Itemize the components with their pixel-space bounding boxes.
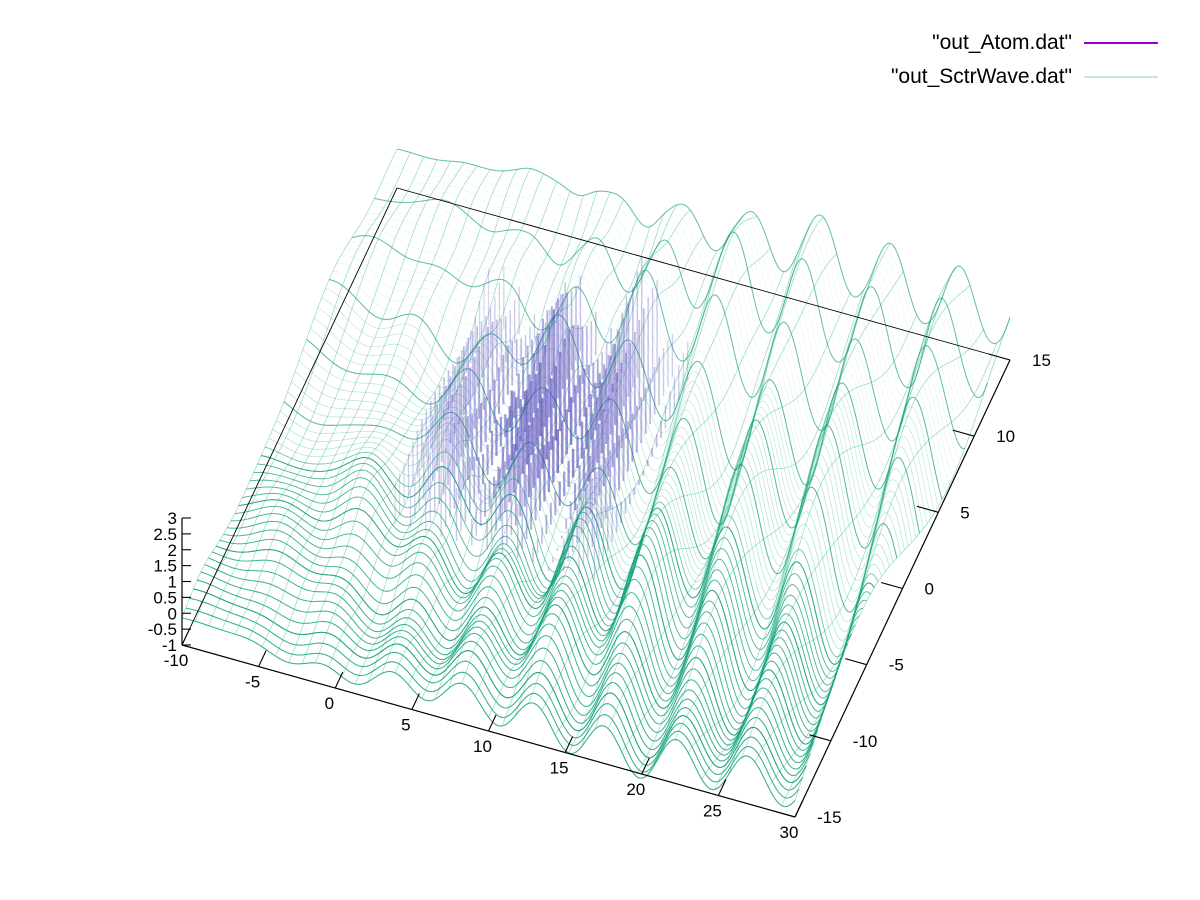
x-tick-label: 0 <box>325 694 334 713</box>
gnuplot-figure: -10-5051015202530-15-10-505101532.521.51… <box>0 0 1200 900</box>
y-tick-label: 0 <box>925 580 934 599</box>
legend-swatch-sctrwave <box>1084 76 1158 78</box>
y-tick-label: -10 <box>853 732 878 751</box>
y-tick-label: 15 <box>1032 351 1051 370</box>
x-tick-mark <box>718 780 726 796</box>
x-tick-label: 5 <box>401 716 410 735</box>
x-tick-label: 15 <box>550 759 569 778</box>
x-tick-label: 30 <box>780 823 799 842</box>
x-tick-mark <box>489 715 497 731</box>
legend-entry-sctrwave[interactable]: "out_SctrWave.dat" <box>891 60 1158 94</box>
legend-label-sctrwave: "out_SctrWave.dat" <box>891 65 1072 89</box>
z-tick-label: -1 <box>162 636 177 655</box>
x-tick-mark <box>259 651 267 667</box>
y-tick-label: 10 <box>996 427 1015 446</box>
legend: "out_Atom.dat" "out_SctrWave.dat" <box>891 26 1158 94</box>
x-tick-mark <box>182 629 190 645</box>
legend-swatch-atom <box>1084 42 1158 44</box>
y-tick-mark <box>881 582 902 588</box>
x-tick-label: 25 <box>703 802 722 821</box>
plot-canvas: -10-5051015202530-15-10-505101532.521.51… <box>0 0 1200 900</box>
x-tick-mark <box>412 694 420 710</box>
y-tick-label: 5 <box>960 503 969 522</box>
x-tick-label: 20 <box>626 780 645 799</box>
y-tick-mark <box>774 811 795 817</box>
y-tick-label: -15 <box>817 808 842 827</box>
x-tick-label: -5 <box>245 673 260 692</box>
legend-entry-atom[interactable]: "out_Atom.dat" <box>891 26 1158 60</box>
y-tick-label: -5 <box>889 656 904 675</box>
y-tick-mark <box>845 659 866 665</box>
x-tick-mark <box>795 801 803 817</box>
y-tick-mark <box>989 354 1010 360</box>
x-tick-label: 10 <box>473 737 492 756</box>
legend-label-atom: "out_Atom.dat" <box>932 31 1072 55</box>
